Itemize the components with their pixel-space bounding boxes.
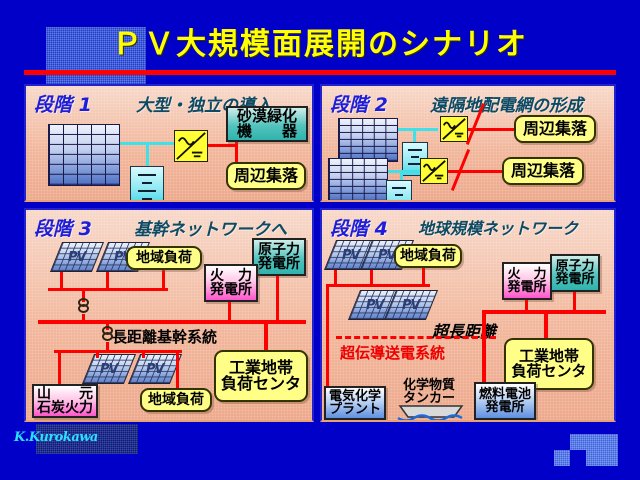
industrial-line2: 負荷センタ: [221, 376, 301, 392]
tanker-line1: 化学物質: [403, 379, 455, 392]
pv-label-m2: PV: [391, 298, 431, 313]
inverter-icon-lower: [420, 158, 448, 184]
corner-checker-6: [602, 434, 618, 450]
pv-array-icon-t1: PV: [50, 242, 104, 272]
wire-local-load-top-drop: [162, 267, 165, 290]
transformer-icon-bottom: [101, 326, 114, 342]
local-load-label: 地域負荷: [400, 249, 456, 263]
coal-line2: 石炭火力: [37, 401, 93, 415]
fuel-cell-plant-box: 燃料電池 発電所: [474, 382, 536, 420]
local-load-bottom-box: 地域負荷: [140, 388, 212, 412]
nuclear-plant-box-4: 原子力 発電所: [550, 254, 600, 292]
wire-left-riser: [326, 284, 329, 394]
title-underline-rule: [24, 70, 616, 75]
local-load-top-label: 地域負荷: [136, 251, 192, 265]
wire-nuclear4-drop: [573, 292, 576, 312]
local-load-top-box: 地域負荷: [126, 246, 202, 270]
wire-pv-b2-up: [142, 350, 145, 358]
industrial4-line2: 負荷センタ: [511, 364, 586, 379]
village-label-1: 周辺集落: [523, 121, 587, 137]
wire-coal-up: [58, 350, 61, 388]
stage-3-subtitle: 基幹ネットワークへ: [134, 215, 287, 240]
desert-greening-line2: 機 器: [237, 124, 297, 139]
fuelcell-line1: 燃料電池: [479, 388, 531, 401]
panel-stage-4: 段階 4 地球規模ネットワーク PV PV 地域負荷 PV PV 超長距離 超伝…: [320, 208, 616, 422]
inverter-icon: [174, 130, 208, 162]
stage-1-label: 段階 1: [34, 90, 92, 117]
village-label-2: 周辺集落: [511, 163, 575, 179]
corner-checker-5: [554, 450, 570, 466]
superconducting-dashed-line: [336, 336, 496, 339]
thermal-line1: 火 力: [210, 269, 252, 283]
coal-line1: 山 元: [37, 387, 93, 401]
battery-icon: [130, 166, 164, 202]
stage-2-label: 段階 2: [330, 90, 388, 117]
battery-icon-lower: [386, 180, 412, 202]
electrochem-line2: プラント: [329, 403, 381, 416]
corner-checker-3: [602, 450, 618, 466]
local-load-box: 地域負荷: [394, 244, 462, 268]
corner-checker-2: [586, 434, 602, 450]
tanker-ship-icon: [396, 404, 466, 422]
transformer-icon-top: [77, 298, 90, 314]
nuclear-line2: 発電所: [258, 257, 300, 271]
nuclear-line1: 原子力: [258, 243, 300, 257]
village-label: 周辺集落: [234, 168, 298, 184]
wire-local-load-bottom-up: [176, 350, 179, 388]
wire-pv-b1-up: [96, 350, 99, 358]
coal-plant-box: 山 元 石炭火力: [32, 384, 98, 418]
thermal-line2: 発電所: [210, 283, 252, 297]
thermal-plant-box-4: 火 力 発電所: [502, 262, 552, 300]
village-box-2: 周辺集落: [502, 157, 584, 185]
panel-stage-3: 段階 3 基幹ネットワークへ PV PV 地域負荷 長距離基幹系統 原子力 発電…: [24, 208, 314, 422]
stage-4-subtitle: 地球規模ネットワーク: [418, 215, 578, 239]
corner-checker-1: [570, 434, 586, 450]
wire-pv-upper: [398, 128, 438, 131]
pv-array-icon: [48, 124, 120, 186]
local-load-bottom-label: 地域負荷: [148, 393, 204, 407]
electrochem-line1: 電気化学: [329, 390, 381, 403]
fuelcell-line2: 発電所: [485, 401, 524, 414]
thermal4-line2: 発電所: [507, 281, 546, 294]
trunk-line-label: 長距離基幹系統: [112, 326, 217, 347]
nuclear-plant-box: 原子力 発電所: [252, 238, 306, 276]
wire-inverter-out: [208, 144, 238, 147]
bus-upper-collector: [326, 284, 430, 287]
page-title: ＰＶ大規模面展開のシナリオ: [0, 27, 640, 63]
pv-label-b1: PV: [89, 362, 129, 377]
panel-stage-2: 段階 2 遠隔地配電網の形成 周辺集落: [320, 84, 616, 202]
pv-label-b2: PV: [135, 362, 175, 377]
nuclear4-line2: 発電所: [555, 273, 594, 286]
bus-bottom-collector: [54, 350, 182, 353]
author-signature: K.Kurokawa: [14, 430, 98, 445]
desert-greening-equipment-box: 砂漠緑化 機 器: [226, 106, 308, 142]
stage-3-label: 段階 3: [34, 214, 92, 241]
village-box: 周辺集落: [226, 162, 306, 190]
village-box-1: 周辺集落: [514, 115, 596, 143]
wire-nuclear-drop: [276, 276, 279, 322]
stage-4-label: 段階 4: [330, 214, 388, 241]
pv-array-icon-upper: [338, 118, 398, 162]
wire-right-trunk-riser: [482, 310, 486, 382]
stage-2-subtitle: 遠隔地配電網の形成: [430, 91, 583, 116]
slide-canvas: ＰＶ大規模面展開のシナリオ 段階 1 大型・独立の導入 砂漠緑化 機 器: [0, 0, 640, 480]
industrial-center-box: 工業地帯 負荷センタ: [214, 350, 308, 402]
superconducting-grid-label: 超伝導送電系統: [340, 342, 445, 363]
inverter-icon-upper: [440, 116, 468, 142]
thermal4-line1: 火 力: [507, 268, 546, 281]
pv-label-t1: PV: [57, 250, 97, 265]
corner-checker-4: [586, 450, 602, 466]
panel-stage-1: 段階 1 大型・独立の導入 砂漠緑化 機 器 周辺集落: [24, 84, 314, 202]
wire-pv-to-bus: [120, 142, 178, 145]
wire-thermal-drop: [228, 302, 231, 322]
pv-array-icon-b1: PV: [82, 354, 136, 384]
electrochemical-plant-box: 電気化学 プラント: [324, 386, 386, 420]
nuclear4-line1: 原子力: [555, 260, 594, 273]
bus-top-collector: [48, 288, 168, 291]
pv-array-icon-lower: [328, 158, 388, 202]
pv-array-icon-b2: PV: [128, 354, 182, 384]
thermal-plant-box: 火 力 発電所: [204, 264, 258, 302]
